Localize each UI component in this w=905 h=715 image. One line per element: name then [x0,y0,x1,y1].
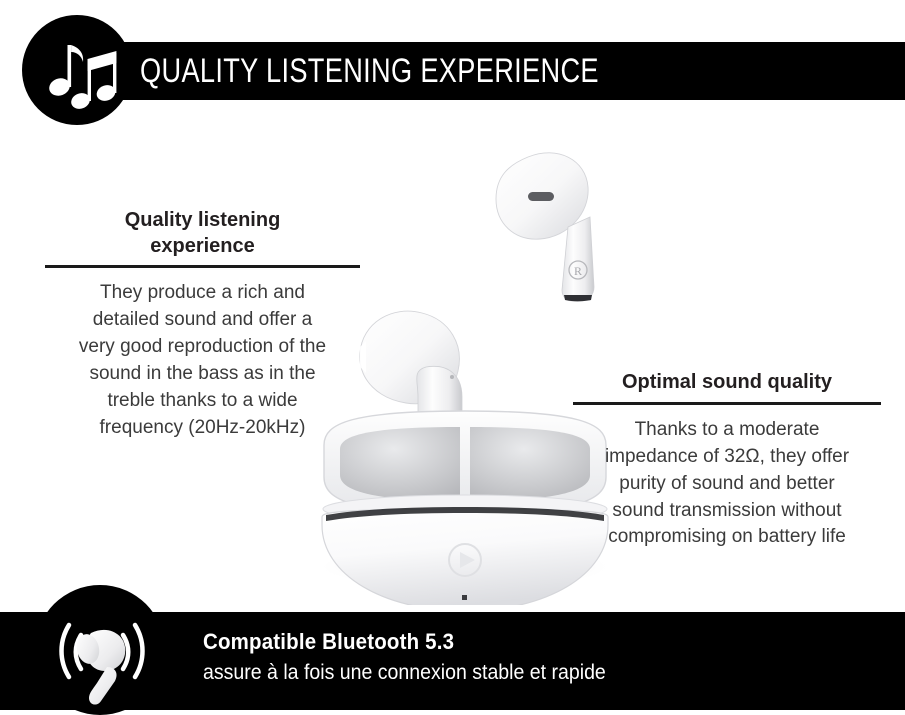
footer-text-block: Compatible Bluetooth 5.3 assure à la foi… [203,628,863,686]
callout-divider [573,402,881,405]
callout-title: Quality listening experience [78,208,328,259]
charging-case-body [322,507,608,605]
footer-subtitle: assure à la fois une connexion stable et… [203,659,817,686]
header-badge-circle [22,15,132,125]
footer-heading: Compatible Bluetooth 5.3 [203,628,817,656]
earbud-right: R [496,153,594,302]
callout-quality-listening: Quality listening experience They produc… [45,208,360,442]
callout-body: They produce a rich and detailed sound a… [78,280,328,442]
led-indicator [462,595,467,600]
callout-divider [45,265,360,268]
header-bar: QUALITY LISTENING EXPERIENCE [60,42,905,100]
svg-text:R: R [574,264,582,278]
page-title: QUALITY LISTENING EXPERIENCE [140,42,599,100]
callout-body: Thanks to a moderate impedance of 32Ω, t… [593,417,861,552]
charging-case-lid [323,411,607,523]
callout-title: Optimal sound quality [573,370,881,396]
footer-badge-circle [35,585,165,715]
earbud-sound-waves-icon [35,585,165,715]
callout-optimal-sound-quality: Optimal sound quality Thanks to a modera… [573,370,881,551]
music-notes-icon [22,15,132,125]
